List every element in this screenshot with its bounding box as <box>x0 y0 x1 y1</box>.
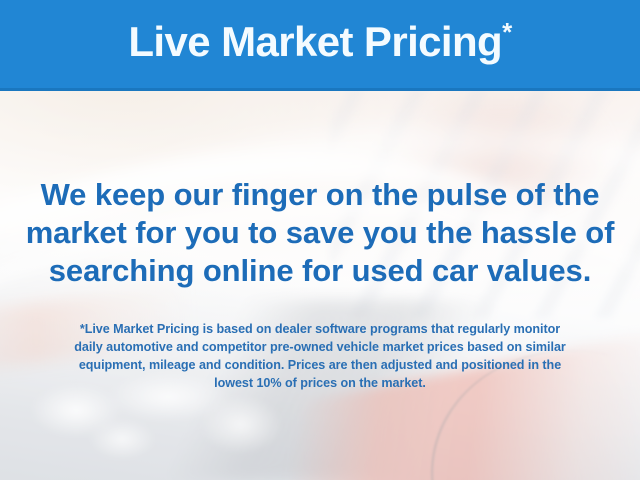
footnote-line-1: *Live Market Pricing is based on dealer … <box>28 320 612 338</box>
headline-line-1: We keep our finger on the pulse of the <box>20 176 620 214</box>
footnote-disclaimer: *Live Market Pricing is based on dealer … <box>28 320 612 392</box>
page-title: Live Market Pricing* <box>128 21 511 67</box>
live-market-pricing-banner: Live Market Pricing* We keep our finger … <box>0 0 640 480</box>
headline-line-3: searching online for used car values. <box>20 252 620 290</box>
page-title-asterisk: * <box>502 17 512 47</box>
header-bar: Live Market Pricing* <box>0 0 640 91</box>
headline-line-2: market for you to save you the hassle of <box>20 214 620 252</box>
background-swoosh-upper <box>0 109 599 480</box>
footnote-line-2: daily automotive and competitor pre-owne… <box>28 338 612 356</box>
page-title-text: Live Market Pricing <box>128 18 502 65</box>
footnote-line-4: lowest 10% of prices on the market. <box>28 374 612 392</box>
footnote-line-3: equipment, mileage and condition. Prices… <box>28 356 612 374</box>
headline: We keep our finger on the pulse of the m… <box>20 176 620 290</box>
